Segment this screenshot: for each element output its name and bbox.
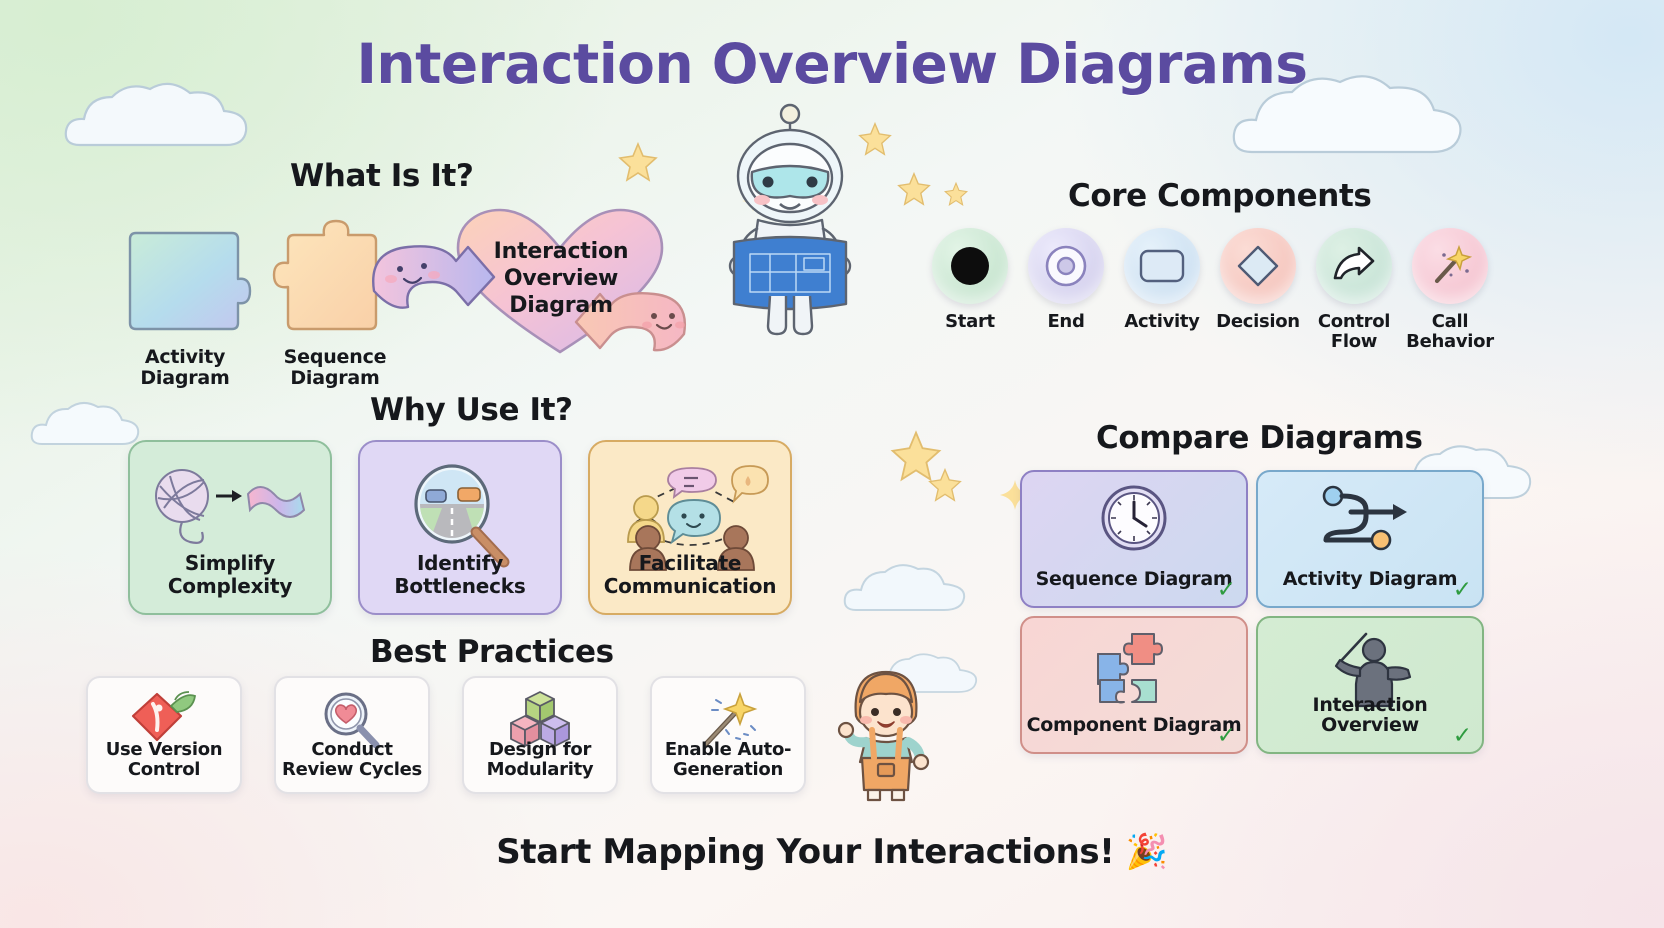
compare-card-sequence-diagram[interactable]: Sequence Diagram ✓	[1020, 470, 1248, 608]
why-card-simplify-complexity[interactable]: Simplify Complexity	[128, 440, 332, 615]
checkmark-icon: ✓	[1217, 579, 1236, 602]
core-component-start[interactable]: Start	[925, 228, 1015, 332]
why-card-identify-bottlenecks[interactable]: Identify Bottlenecks	[358, 440, 562, 615]
flow-arrow-icon	[1258, 482, 1482, 552]
core-component-decision[interactable]: Decision	[1213, 228, 1303, 332]
end-node-icon	[1028, 228, 1104, 304]
core-component-label: Control Flow	[1318, 312, 1390, 352]
why-card-label: Identify Bottlenecks	[360, 552, 560, 597]
best-practice-use-version-control[interactable]: Use Version Control	[86, 676, 242, 794]
compare-card-label: Component Diagram	[1022, 715, 1246, 736]
input-label: Activity Diagram	[110, 347, 260, 390]
what-is-it-group: Activity Diagram Sequence Diagram	[110, 195, 700, 385]
star-icon	[897, 172, 931, 206]
star-icon	[928, 468, 962, 502]
core-component-call-behavior[interactable]: Call Behavior	[1405, 228, 1495, 352]
core-component-label: Activity	[1124, 312, 1199, 332]
best-practice-label: Enable Auto- Generation	[652, 740, 804, 780]
section-title-core-components: Core Components	[1068, 178, 1371, 214]
why-card-label: Simplify Complexity	[130, 552, 330, 597]
decision-node-icon	[1220, 228, 1296, 304]
start-node-icon	[932, 228, 1008, 304]
magic-wand-icon	[1412, 228, 1488, 304]
section-title-compare-diagrams: Compare Diagrams	[1096, 420, 1423, 456]
yarn-to-ribbon-icon	[146, 462, 314, 548]
best-practice-design-for-modularity[interactable]: Design for Modularity	[462, 676, 618, 794]
core-component-control-flow[interactable]: Control Flow	[1309, 228, 1399, 352]
star-icon	[618, 142, 658, 182]
best-practice-enable-auto-generation[interactable]: Enable Auto- Generation	[650, 676, 806, 794]
star-icon	[890, 430, 942, 482]
cloud-icon	[840, 560, 980, 622]
page-title: Interaction Overview Diagrams	[0, 32, 1664, 96]
compare-card-label: Sequence Diagram	[1022, 569, 1246, 590]
best-practice-conduct-review-cycles[interactable]: Conduct Review Cycles	[274, 676, 430, 794]
curved-arrow-icon	[1316, 228, 1392, 304]
clock-icon	[1022, 482, 1246, 554]
core-component-label: End	[1047, 312, 1084, 332]
input-label: Sequence Diagram	[260, 347, 410, 390]
checkmark-icon: ✓	[1453, 579, 1472, 602]
star-icon	[944, 182, 968, 206]
compare-card-label: Activity Diagram	[1258, 569, 1482, 590]
cta-text: Start Mapping Your Interactions! 🎉	[0, 832, 1664, 872]
why-card-label: Facilitate Communication	[590, 552, 790, 597]
compare-diagrams-grid: Sequence Diagram ✓ Activity Diagram ✓	[1020, 470, 1484, 754]
core-component-activity[interactable]: Activity	[1117, 228, 1207, 332]
compare-card-label: Interaction Overview	[1258, 695, 1482, 736]
why-use-it-row: Simplify Complexity	[128, 440, 792, 615]
section-title-what-is-it: What Is It?	[290, 158, 474, 194]
astronaut-robot-with-blueprint	[700, 100, 880, 340]
core-component-label: Call Behavior	[1406, 312, 1494, 352]
compare-card-activity-diagram[interactable]: Activity Diagram ✓	[1256, 470, 1484, 608]
why-card-facilitate-communication[interactable]: Facilitate Communication	[588, 440, 792, 615]
checkmark-icon: ✓	[1453, 725, 1472, 748]
waving-child	[832, 668, 938, 804]
best-practice-label: Use Version Control	[88, 740, 240, 780]
core-component-label: Decision	[1216, 312, 1300, 332]
section-title-why-use-it: Why Use It?	[370, 392, 573, 428]
compare-card-interaction-overview[interactable]: Interaction Overview ✓	[1256, 616, 1484, 754]
core-components-row: Start End Activity	[925, 228, 1495, 378]
best-practice-label: Conduct Review Cycles	[276, 740, 428, 780]
checkmark-icon: ✓	[1217, 725, 1236, 748]
compare-card-component-diagram[interactable]: Component Diagram ✓	[1020, 616, 1248, 754]
puzzle-group-icon	[1022, 628, 1246, 710]
puzzle-piece-icon	[126, 225, 262, 337]
best-practices-row: Use Version Control Conduct Review Cycle…	[86, 676, 806, 794]
section-title-best-practices: Best Practices	[370, 634, 614, 670]
core-component-end[interactable]: End	[1021, 228, 1111, 332]
activity-node-icon	[1124, 228, 1200, 304]
core-component-label: Start	[945, 312, 995, 332]
infographic-canvas: Interaction Overview Diagrams	[0, 0, 1664, 928]
result-label: Interaction Overview Diagram	[480, 239, 642, 319]
best-practice-label: Design for Modularity	[464, 740, 616, 780]
